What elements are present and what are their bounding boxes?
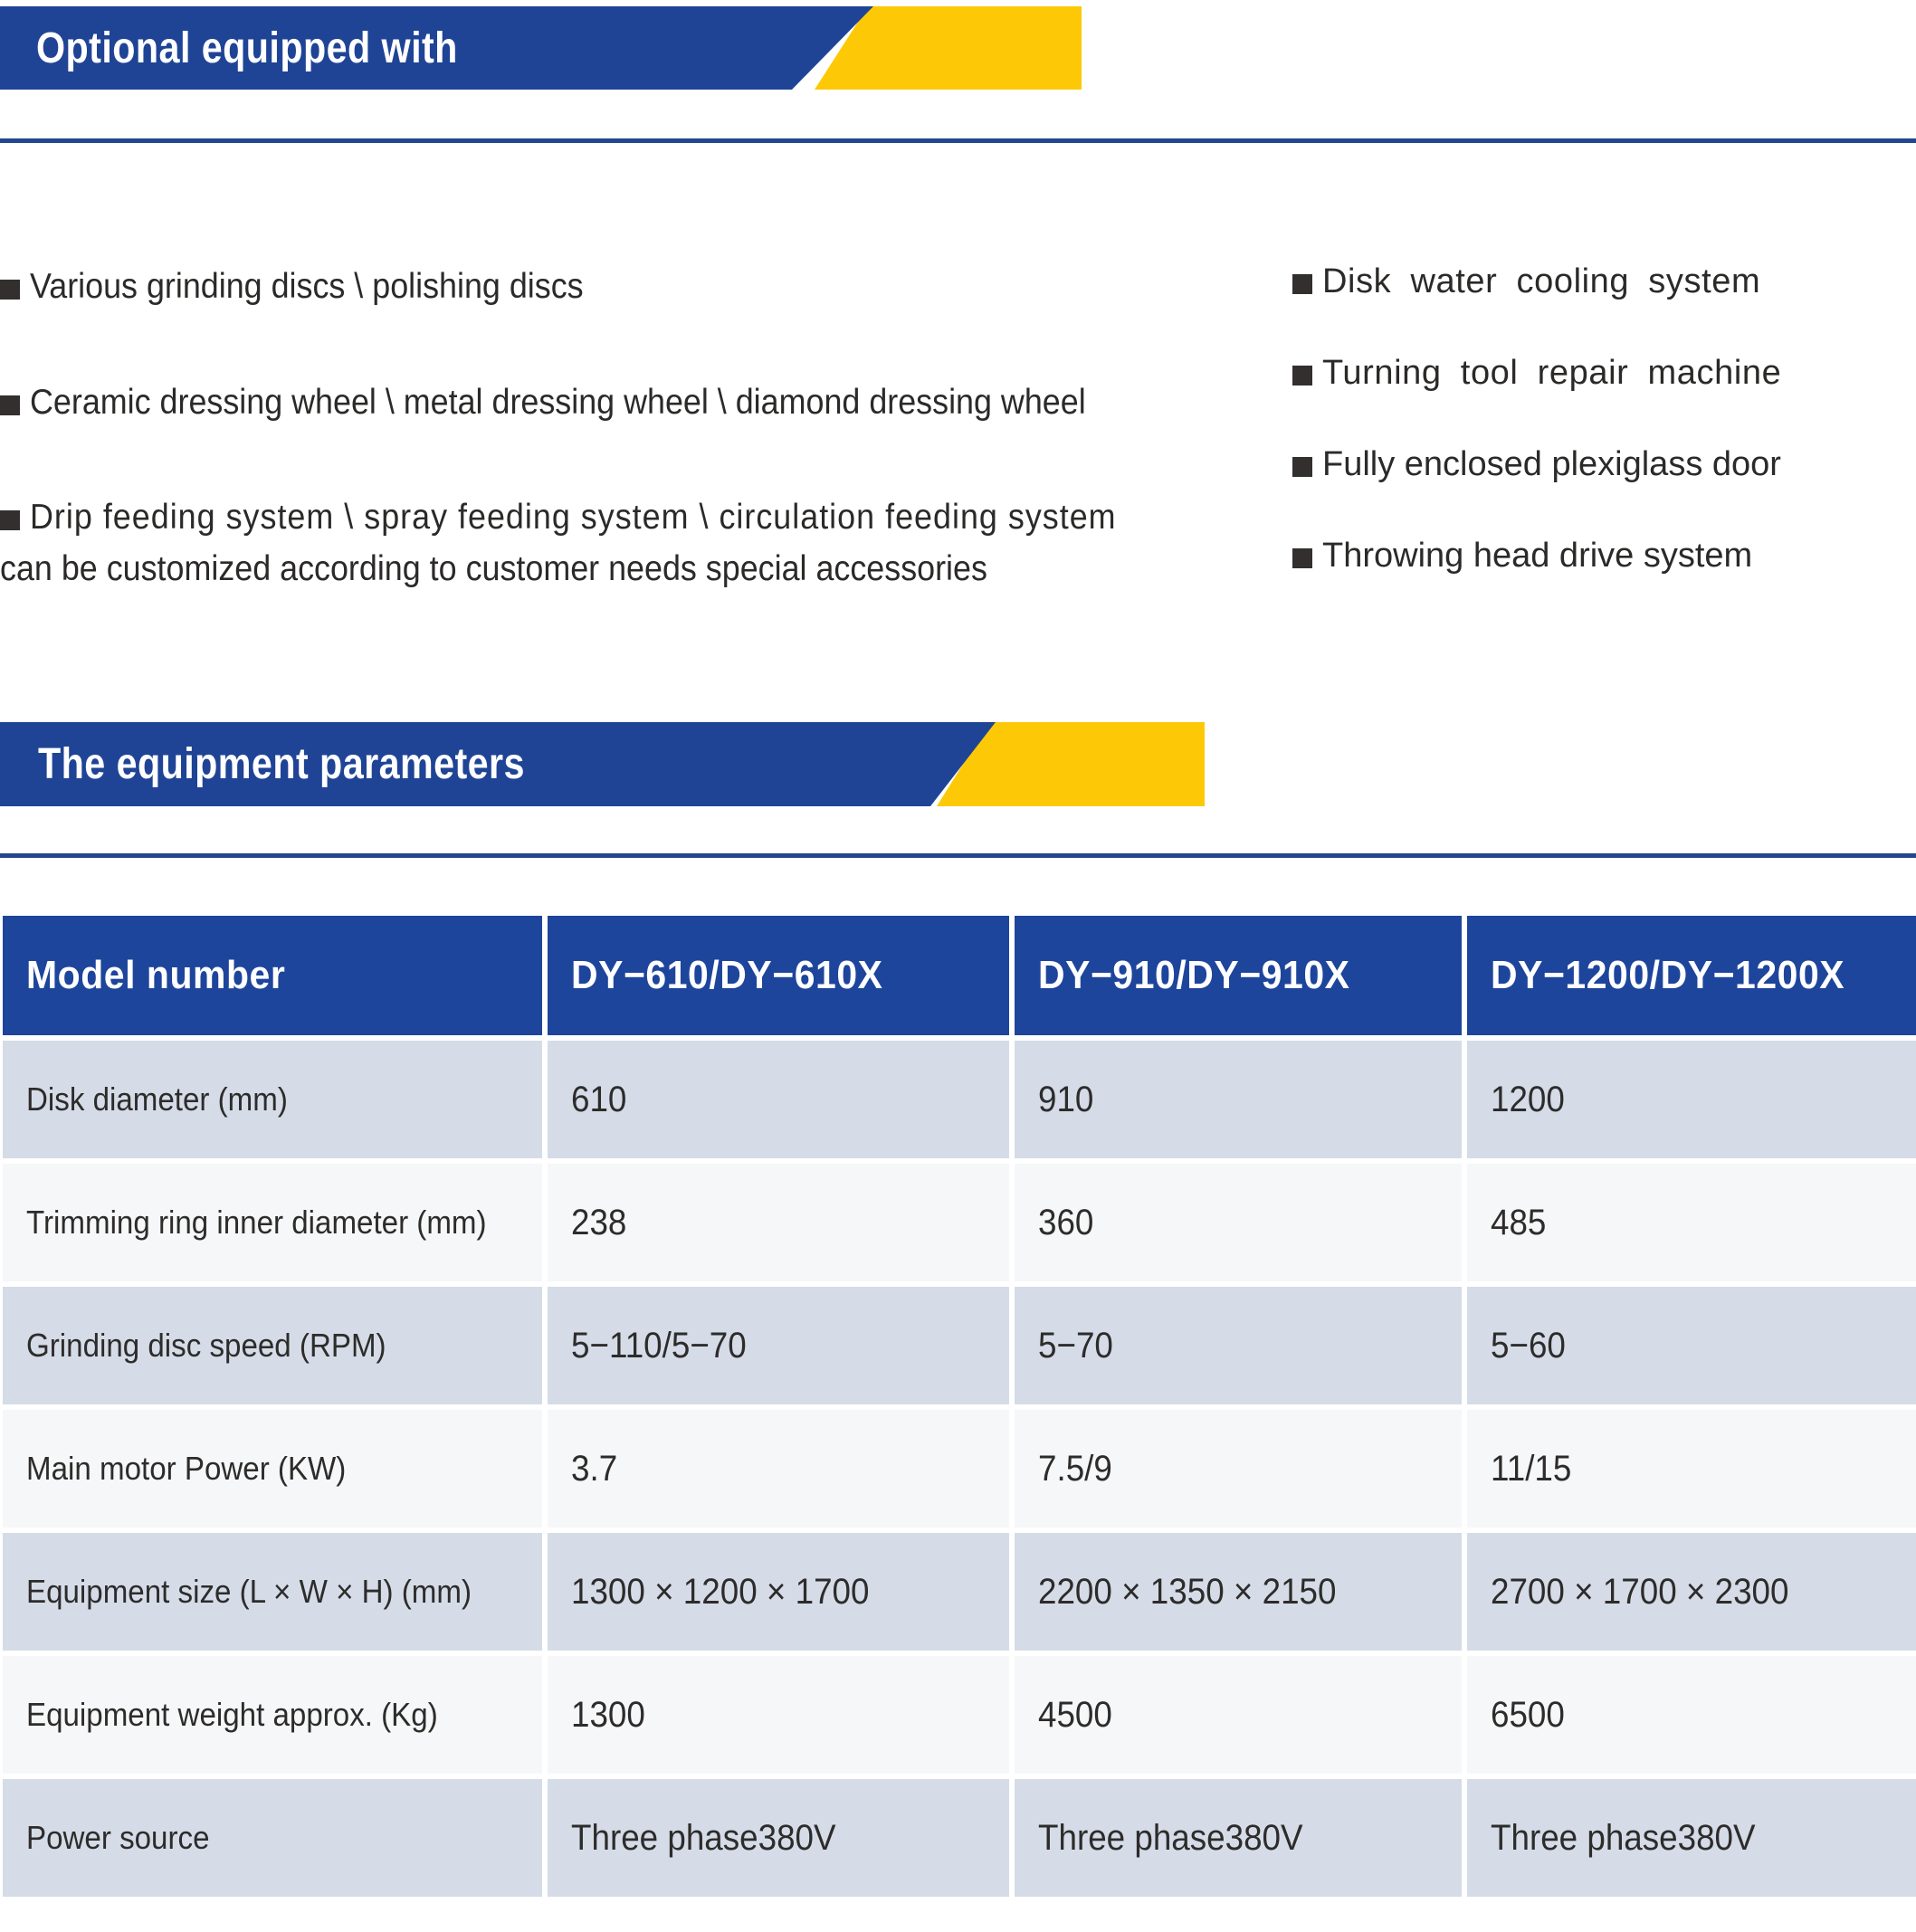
- table-cell-text: Equipment size (L × W × H) (mm): [26, 1573, 472, 1611]
- table-row: Main motor Power (KW)3.77.5/911/15: [3, 1410, 1916, 1528]
- section-divider-optional: [0, 138, 1916, 143]
- square-bullet-icon: [1292, 457, 1312, 477]
- equipment-parameters-table: Model numberDY−610/DY−610XDY−910/DY−910X…: [0, 910, 1916, 1902]
- table-cell-text: Three phase380V: [1491, 1818, 1756, 1859]
- square-bullet-icon: [0, 280, 20, 300]
- list-item: Ceramic dressing wheel \ metal dressing …: [0, 383, 1177, 423]
- section-title-optional: Optional equipped with: [36, 24, 458, 73]
- table-cell-value: 1300 × 1200 × 1700: [548, 1533, 1009, 1651]
- table-header-text: Model number: [26, 953, 285, 998]
- list-item: Turning tool repair machine: [1292, 354, 1781, 393]
- list-item-label: can be customized according to customer …: [0, 549, 987, 589]
- table-row: Power sourceThree phase380VThree phase38…: [3, 1779, 1916, 1897]
- table-cell-text: 485: [1491, 1203, 1546, 1243]
- table-cell-text: 5−110/5−70: [571, 1326, 747, 1366]
- table-cell-text: 2700 × 1700 × 2300: [1491, 1572, 1788, 1613]
- table-cell-value: 1300: [548, 1656, 1009, 1774]
- list-item-label: Various grinding discs \ polishing discs: [30, 267, 584, 307]
- table-cell-text: Power source: [26, 1819, 210, 1857]
- table-cell-value: 11/15: [1467, 1410, 1916, 1528]
- list-item-label: Disk water cooling system: [1322, 262, 1760, 301]
- table-row: Disk diameter (mm)6109101200: [3, 1041, 1916, 1158]
- table-header-text: DY−1200/DY−1200X: [1491, 953, 1845, 998]
- square-bullet-icon: [0, 395, 20, 415]
- table-cell-parameter-label: Equipment weight approx. (Kg): [3, 1656, 542, 1774]
- table-cell-text: 1300: [571, 1695, 645, 1736]
- table-cell-value: 2700 × 1700 × 2300: [1467, 1533, 1916, 1651]
- table-cell-value: 5−60: [1467, 1287, 1916, 1404]
- table-header-row: Model numberDY−610/DY−610XDY−910/DY−910X…: [3, 916, 1916, 1035]
- table-cell-text: 4500: [1038, 1695, 1112, 1736]
- table-row: Trimming ring inner diameter (mm)2383604…: [3, 1164, 1916, 1281]
- table-cell-text: 360: [1038, 1203, 1093, 1243]
- list-item-label: Fully enclosed plexiglass door: [1322, 445, 1781, 484]
- table-cell-text: 5−60: [1491, 1326, 1566, 1366]
- section-banner-parameters: The equipment parameters: [0, 719, 1916, 864]
- table-row: Equipment weight approx. (Kg)13004500650…: [3, 1656, 1916, 1774]
- table-cell-text: Grinding disc speed (RPM): [26, 1327, 386, 1365]
- table-cell-value: 5−70: [1015, 1287, 1462, 1404]
- table-header-cell-model: DY−1200/DY−1200X: [1467, 916, 1916, 1035]
- table-cell-text: 6500: [1491, 1695, 1565, 1736]
- table-cell-parameter-label: Main motor Power (KW): [3, 1410, 542, 1528]
- table-cell-value: Three phase380V: [548, 1779, 1009, 1897]
- table-cell-text: 610: [571, 1080, 626, 1120]
- square-bullet-icon: [1292, 548, 1312, 568]
- optional-left-column: Various grinding discs \ polishing discs…: [0, 163, 1249, 597]
- list-item: Various grinding discs \ polishing discs: [0, 267, 632, 307]
- table-cell-text: 11/15: [1491, 1449, 1571, 1489]
- list-item-continuation: can be customized according to customer …: [0, 549, 1073, 589]
- table-cell-value: 360: [1015, 1164, 1462, 1281]
- list-item: Throwing head drive system: [1292, 537, 1752, 576]
- section-banner-optional: Optional equipped with: [0, 0, 1916, 145]
- list-item: Disk water cooling system: [1292, 262, 1760, 301]
- square-bullet-icon: [1292, 366, 1312, 385]
- table-cell-parameter-label: Power source: [3, 1779, 542, 1897]
- table-cell-text: Three phase380V: [571, 1818, 836, 1859]
- table-cell-value: 3.7: [548, 1410, 1009, 1528]
- section-divider-parameters: [0, 853, 1916, 858]
- table-cell-value: 610: [548, 1041, 1009, 1158]
- table-header-cell-model: DY−610/DY−610X: [548, 916, 1009, 1035]
- table-cell-text: 7.5/9: [1038, 1449, 1112, 1489]
- banner-blue-shape-optional: Optional equipped with: [0, 6, 873, 90]
- table-cell-value: 1200: [1467, 1041, 1916, 1158]
- list-item: Fully enclosed plexiglass door: [1292, 445, 1781, 484]
- table-cell-text: Three phase380V: [1038, 1818, 1303, 1859]
- banner-blue-shape-parameters: The equipment parameters: [0, 722, 996, 806]
- table-cell-text: 3.7: [571, 1449, 617, 1489]
- list-item-label: Ceramic dressing wheel \ metal dressing …: [30, 383, 1086, 423]
- list-item: Drip feeding system \ spray feeding syst…: [0, 498, 1211, 538]
- table-cell-text: 1300 × 1200 × 1700: [571, 1572, 869, 1613]
- table-header-text: DY−910/DY−910X: [1038, 953, 1350, 998]
- table-cell-value: 6500: [1467, 1656, 1916, 1774]
- table-cell-value: 2200 × 1350 × 2150: [1015, 1533, 1462, 1651]
- table-cell-text: 910: [1038, 1080, 1093, 1120]
- optional-right-column: Disk water cooling system Turning tool r…: [1292, 163, 1908, 597]
- table-cell-text: Trimming ring inner diameter (mm): [26, 1204, 487, 1242]
- table-cell-value: Three phase380V: [1467, 1779, 1916, 1897]
- table-cell-text: 2200 × 1350 × 2150: [1038, 1572, 1336, 1613]
- table-cell-value: Three phase380V: [1015, 1779, 1462, 1897]
- list-item-label: Turning tool repair machine: [1322, 354, 1781, 393]
- section-title-parameters: The equipment parameters: [38, 739, 525, 789]
- table-cell-value: 485: [1467, 1164, 1916, 1281]
- table-cell-value: 4500: [1015, 1656, 1462, 1774]
- table-cell-text: 1200: [1491, 1080, 1565, 1120]
- table-cell-text: Disk diameter (mm): [26, 1080, 288, 1118]
- table-cell-parameter-label: Equipment size (L × W × H) (mm): [3, 1533, 542, 1651]
- table-header-cell-label: Model number: [3, 916, 542, 1035]
- list-item-label: Throwing head drive system: [1322, 537, 1752, 576]
- table-cell-value: 5−110/5−70: [548, 1287, 1009, 1404]
- table-cell-text: Equipment weight approx. (Kg): [26, 1696, 438, 1734]
- list-item-label: Drip feeding system \ spray feeding syst…: [30, 498, 1117, 538]
- table-header-text: DY−610/DY−610X: [571, 953, 883, 998]
- table-header-cell-model: DY−910/DY−910X: [1015, 916, 1462, 1035]
- table-cell-parameter-label: Trimming ring inner diameter (mm): [3, 1164, 542, 1281]
- table-cell-text: 238: [571, 1203, 626, 1243]
- table-cell-value: 910: [1015, 1041, 1462, 1158]
- table-row: Grinding disc speed (RPM)5−110/5−705−705…: [3, 1287, 1916, 1404]
- square-bullet-icon: [0, 510, 20, 530]
- table-cell-value: 7.5/9: [1015, 1410, 1462, 1528]
- table-row: Equipment size (L × W × H) (mm)1300 × 12…: [3, 1533, 1916, 1651]
- table-cell-parameter-label: Disk diameter (mm): [3, 1041, 542, 1158]
- table-cell-value: 238: [548, 1164, 1009, 1281]
- square-bullet-icon: [1292, 274, 1312, 294]
- table-cell-text: Main motor Power (KW): [26, 1450, 346, 1488]
- table-cell-text: 5−70: [1038, 1326, 1113, 1366]
- table-cell-parameter-label: Grinding disc speed (RPM): [3, 1287, 542, 1404]
